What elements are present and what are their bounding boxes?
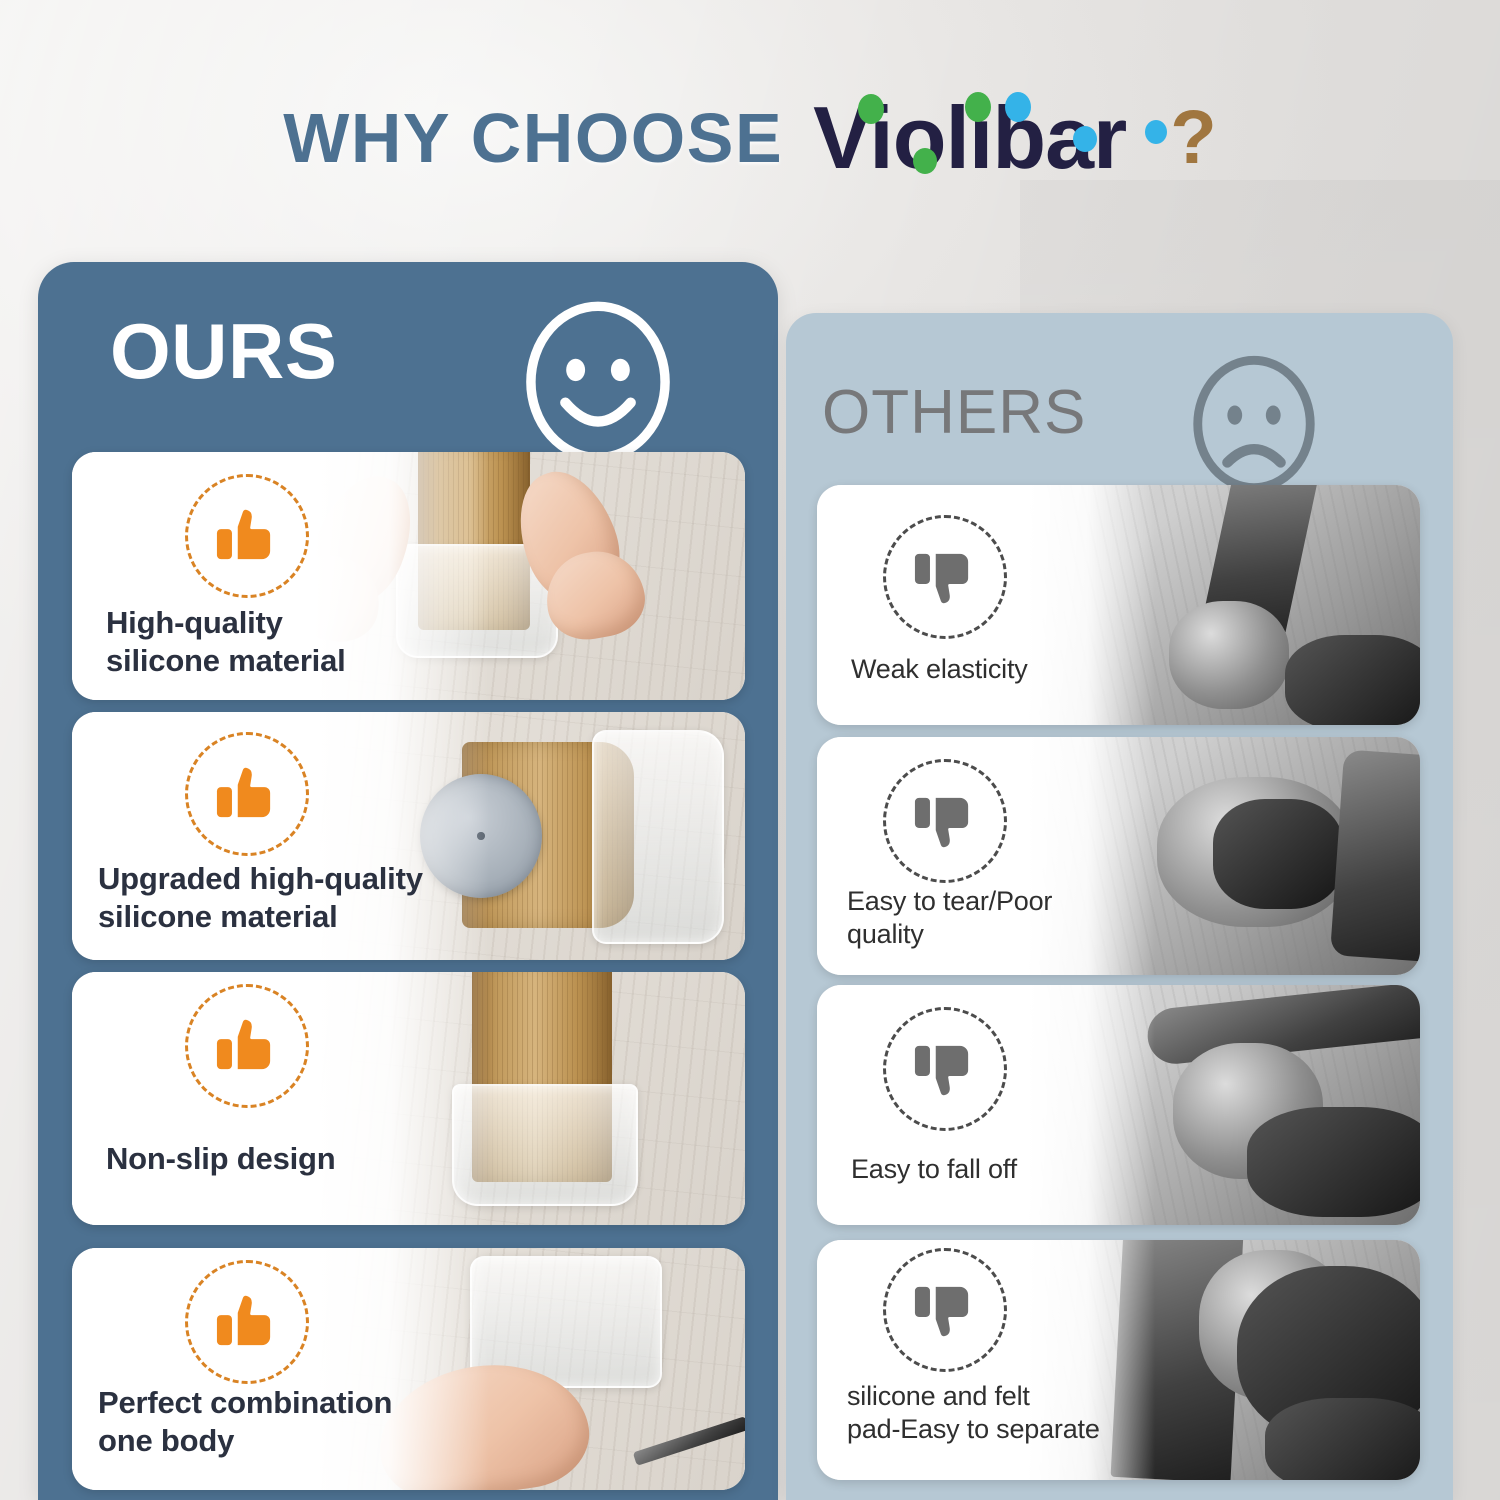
thumbs-up-glyph	[210, 1009, 284, 1083]
thumbs-down-icon	[883, 515, 1007, 639]
page-title: WHY CHOOSE	[283, 103, 783, 173]
ours-title: OURS	[110, 312, 337, 390]
ours-card-4-caption: Perfect combination one body	[98, 1384, 518, 1460]
thumbs-up-icon	[185, 474, 309, 598]
smiley-face-icon	[512, 296, 684, 468]
others-card-3-caption: Easy to fall off	[851, 1153, 1231, 1186]
others-card-2[interactable]: Easy to tear/Poor quality	[817, 737, 1420, 975]
brand-dot-cyan-a	[1073, 126, 1097, 152]
others-card-4[interactable]: silicone and felt pad-Easy to separate	[817, 1240, 1420, 1480]
thumbs-down-glyph	[908, 1032, 982, 1106]
page-header: WHY CHOOSE Violibar ?	[0, 70, 1500, 205]
others-card-2-caption: Easy to tear/Poor quality	[847, 885, 1227, 951]
ours-card-3-caption: Non-slip design	[106, 1140, 526, 1178]
others-card-1[interactable]: Weak elasticity	[817, 485, 1420, 725]
ours-card-2[interactable]: Upgraded high-quality silicone material	[72, 712, 745, 960]
thumbs-up-icon	[185, 1260, 309, 1384]
brand-dot-green-l	[965, 92, 991, 122]
others-card-3[interactable]: Easy to fall off	[817, 985, 1420, 1225]
question-mark: ?	[1170, 100, 1216, 176]
thumbs-down-icon	[883, 1007, 1007, 1131]
thumbs-up-icon	[185, 732, 309, 856]
brand-dot-cyan-i	[1005, 92, 1031, 122]
thumbs-up-glyph	[210, 757, 284, 831]
others-title: OTHERS	[822, 382, 1086, 444]
thumbs-down-glyph	[908, 784, 982, 858]
ours-card-1-caption: High-quality silicone material	[106, 604, 506, 680]
frowny-face-icon	[1180, 350, 1328, 498]
ours-card-4[interactable]: Perfect combination one body	[72, 1248, 745, 1490]
others-card-4-caption: silicone and felt pad-Easy to separate	[847, 1380, 1247, 1446]
ours-card-2-caption: Upgraded high-quality silicone material	[98, 860, 518, 936]
thumbs-up-icon	[185, 984, 309, 1108]
thumbs-down-icon	[883, 759, 1007, 883]
others-card-1-caption: Weak elasticity	[851, 653, 1231, 686]
brand-logo: Violibar	[813, 94, 1126, 182]
thumbs-up-glyph	[210, 1285, 284, 1359]
thumbs-down-glyph	[908, 1273, 982, 1347]
thumbs-down-icon	[883, 1248, 1007, 1372]
ours-card-3[interactable]: Non-slip design	[72, 972, 745, 1225]
thumbs-down-glyph	[908, 540, 982, 614]
thumbs-up-glyph	[210, 499, 284, 573]
brand-dot-cyan-r	[1145, 120, 1167, 144]
ours-card-1[interactable]: High-quality silicone material	[72, 452, 745, 700]
infographic-stage: WHY CHOOSE Violibar ? OURS	[0, 0, 1500, 1500]
brand-dot-green-o	[913, 148, 937, 174]
brand-dot-green-i	[858, 94, 884, 124]
